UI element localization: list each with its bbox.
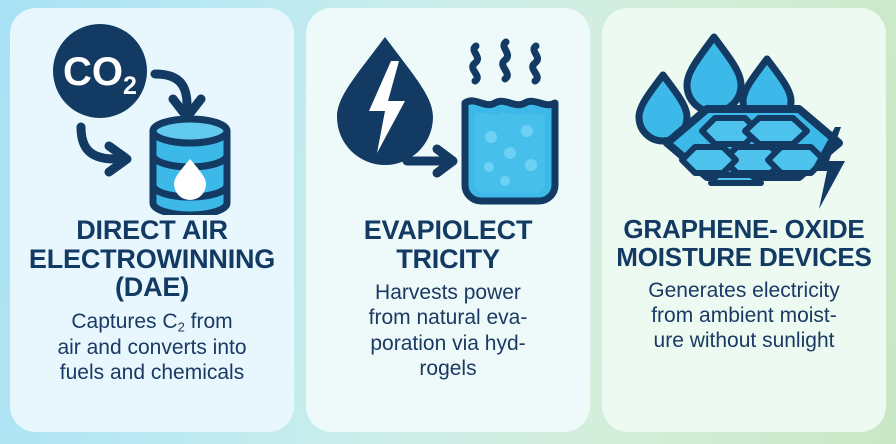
- title-line: TRICITY: [396, 244, 500, 274]
- card-title: DIRECT AIR ELECTROWINNING (DAE): [18, 216, 286, 302]
- droplet-energy-beaker-icon: [323, 19, 573, 215]
- card-description: Generates electricity from ambient moist…: [610, 278, 878, 354]
- graphene-lattice-moisture-icon: [619, 19, 869, 215]
- desc-line: rogels: [314, 356, 582, 381]
- card-title: GRAPHENE- OXIDE MOISTURE DEVICES: [610, 216, 878, 271]
- icon-co2-to-barrel: CO2: [18, 18, 286, 216]
- card-direct-air-electrowinning[interactable]: CO2 DIRECT AIR ELECTROWINNING: [10, 8, 294, 432]
- title-line: OXIDE: [785, 214, 865, 244]
- card-description: Harvests power from natural eva- poratio…: [314, 280, 582, 381]
- droplet-with-bolt: [337, 37, 433, 165]
- beaker-with-water: [465, 101, 555, 201]
- card-title: EVAPIOLECT TRICITY: [314, 216, 582, 273]
- desc-line: fuels and chemicals: [18, 360, 286, 385]
- title-line: DEVICES: [759, 242, 872, 272]
- co2-to-barrel-icon: CO2: [27, 19, 277, 215]
- droplet-1: [687, 37, 741, 112]
- desc-line: from natural eva-: [314, 305, 582, 330]
- card-graphene-oxide-moisture-devices[interactable]: GRAPHENE- OXIDE MOISTURE DEVICES Generat…: [602, 8, 886, 432]
- desc-line: ure without sunlight: [610, 328, 878, 353]
- hexagon-lattice: [667, 109, 839, 183]
- title-line: EVAPIOLECT: [364, 215, 533, 245]
- title-line: ELECTROWINNING: [29, 244, 275, 274]
- desc-line: Captures C2 from: [18, 309, 286, 335]
- icon-graphene-lattice-moisture: [610, 18, 878, 216]
- title-line: (DAE): [115, 272, 189, 302]
- title-line: DIRECT AIR: [76, 215, 228, 245]
- infographic-board: CO2 DIRECT AIR ELECTROWINNING: [0, 0, 896, 444]
- desc-line: poration via hyd-: [314, 331, 582, 356]
- desc-line: air and converts into: [18, 335, 286, 360]
- desc-line: Harvests power: [314, 280, 582, 305]
- oil-barrel: [153, 119, 227, 215]
- desc-line: from ambient moist-: [610, 303, 878, 328]
- title-line: MOISTURE: [616, 242, 752, 272]
- steam-waves: [473, 42, 538, 81]
- desc-text: Captures C: [71, 310, 177, 333]
- icon-droplet-energy-beaker: [314, 18, 582, 216]
- title-line: GRAPHENE-: [623, 214, 777, 244]
- desc-text: from: [185, 310, 233, 333]
- desc-line: Generates electricity: [610, 278, 878, 303]
- card-description: Captures C2 from air and converts into f…: [18, 309, 286, 386]
- subscript-2: 2: [178, 319, 185, 334]
- card-evapiolect-tricity[interactable]: EVAPIOLECT TRICITY Harvests power from n…: [306, 8, 590, 432]
